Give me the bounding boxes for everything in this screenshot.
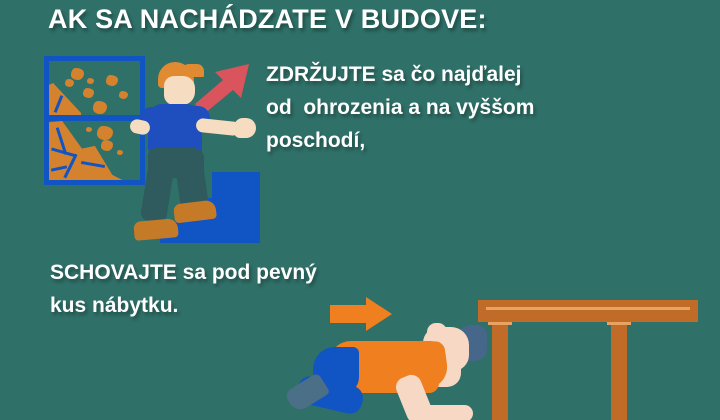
rock-shape xyxy=(101,140,113,151)
table-leg-left xyxy=(492,322,508,420)
hand-support xyxy=(423,405,473,420)
window-pane-bottom-cracked-mountain xyxy=(49,121,140,180)
table-leg-right-bracket xyxy=(607,322,631,325)
rock-shape xyxy=(87,78,94,84)
rock-shape xyxy=(93,101,107,114)
window-pane-top-falling-rocks xyxy=(49,61,140,115)
hair-cap xyxy=(182,64,204,77)
instruction-line: od ohrozenia a na vyššom xyxy=(266,91,686,124)
hand-right xyxy=(234,118,256,138)
shoe-front xyxy=(173,200,217,224)
table-top-highlight xyxy=(486,307,690,310)
rock-shape xyxy=(119,91,128,99)
table-leg-left-bracket xyxy=(488,322,512,325)
rock-shape xyxy=(83,88,94,98)
table-leg-right xyxy=(611,322,627,420)
page-title: AK SA NACHÁDZATE V BUDOVE: xyxy=(48,4,487,35)
shoe-back xyxy=(133,218,178,241)
face-brow xyxy=(427,323,447,337)
earthquake-safety-poster: AK SA NACHÁDZATE V BUDOVE: xyxy=(0,0,720,420)
jeans-leg-back xyxy=(140,164,174,223)
instruction-line: poschodí, xyxy=(266,124,686,157)
window-with-rockslide xyxy=(44,56,145,185)
instruction-stay-upstairs: ZDRŽUJTE sa čo najďalej od ohrozenia a n… xyxy=(266,58,686,157)
rock-shape xyxy=(117,150,123,155)
window-mullion xyxy=(44,115,145,121)
wooden-table xyxy=(478,300,698,420)
table-top xyxy=(478,300,698,322)
instruction-line: SCHOVAJTE sa pod pevný xyxy=(50,256,380,289)
person-climbing-stairs xyxy=(138,62,268,240)
rock-shape xyxy=(106,75,118,86)
rock-shape xyxy=(86,127,92,132)
instruction-line: ZDRŽUJTE sa čo najďalej xyxy=(266,58,686,91)
rock-shape xyxy=(71,68,84,80)
rock-shape xyxy=(65,79,74,87)
rock-shape xyxy=(97,126,113,140)
